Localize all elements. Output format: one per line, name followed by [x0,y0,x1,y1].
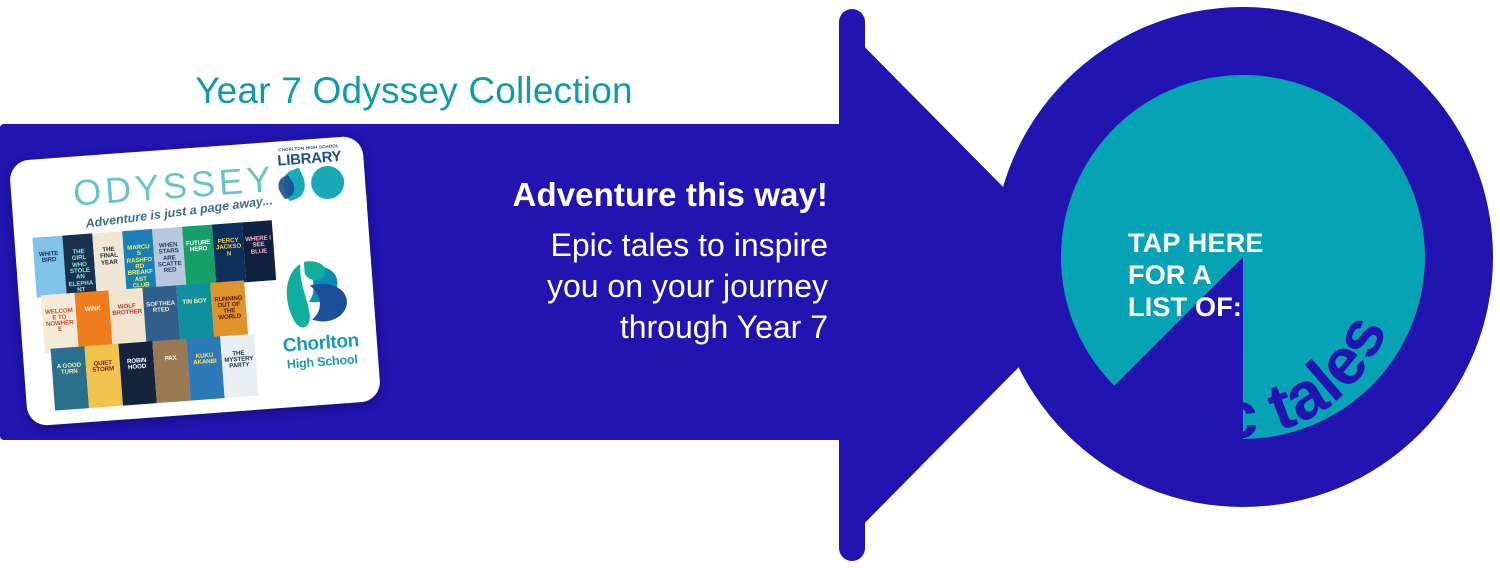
book-cover-title: PAX [155,354,185,362]
book-cover: THE GIRL WHO STOLE AN ELEPHANT [62,233,96,295]
tap-here-line-1: TAP HERE [1128,228,1348,260]
book-cover-title: THE FINAL YEAR [95,246,122,267]
book-cover-title: QUIET STORM [88,359,119,374]
book-cover-grid: WHITE BIRDTHE GIRL WHO STOLE AN ELEPHANT… [32,220,284,412]
banner-heading: Adventure this way! [360,176,828,215]
book-cover-title: KUKU AKANBI [189,352,220,367]
banner-copy: Adventure this way! Epic tales to inspir… [360,176,828,348]
book-cover: KUKU AKANBI [186,336,224,400]
book-cover: MARCUS RASHFORD BREAKFAST CLUB ADVENTURE… [122,229,156,291]
banner-subheading: Epic tales to inspire you on your journe… [360,225,828,348]
library-badge: CHORLTON HIGH SCHOOL LIBRARY [266,142,352,206]
book-cover: WHEN STARS ARE SCATTERED [152,227,186,289]
book-cover: A GOOD TURN [51,346,89,410]
book-cover: THE FINAL YEAR [92,231,126,293]
tap-here-line-3: LIST OF: [1128,292,1348,324]
book-cover-title: A GOOD TURN [54,362,85,377]
book-cover-title: TIN BOY [179,298,209,306]
book-cover-title: FUTURE HERO [185,240,212,254]
book-cover-title: THE MYSTERY PARTY [223,349,254,370]
banner-subheading-line-2: you on your journey [360,266,828,307]
book-cover: WHITE BIRD [32,236,66,298]
book-cover: FUTURE HERO [182,225,216,287]
poster-canvas: Epic tales Year 7 Odyssey Collection Adv… [0,0,1500,568]
chorlton-high-school-logo: Chorlton High School [262,253,377,390]
book-cover: QUIET STORM [84,344,122,408]
odyssey-card-image: ODYSSEY Adventure is just a page away...… [9,135,382,426]
book-cover: WINK [75,290,113,350]
page-title: Year 7 Odyssey Collection [0,62,828,120]
book-cover: ROBIN HOOD [118,341,156,405]
book-cover: RUNNING OUT OF THE WORLD [210,280,248,340]
book-cover-title: WELCOME TO NOWHERE [44,307,76,334]
book-cover-title: MARCUS RASHFORD BREAKFAST CLUB ADVENTURE… [125,244,155,291]
tap-here-callout[interactable]: TAP HERE FOR A LIST OF: [1128,228,1348,324]
book-cover: SOFTHEARTED [142,285,180,345]
book-cover-title: SOFTHEARTED [145,300,176,315]
book-cover: THE MYSTERY PARTY [220,334,258,398]
book-cover: PAX [152,339,190,403]
book-cover-title: ROBIN HOOD [122,357,153,372]
book-cover-title: THE GIRL WHO STOLE AN ELEPHANT [65,249,94,295]
book-cover-title: WOLF BROTHER [112,302,143,317]
book-cover-title: RUNNING OUT OF THE WORLD [213,295,245,322]
book-cover-title: PERCY JACKSON [215,238,242,259]
book-cover-title: WHEN STARS ARE SCATTERED [155,242,183,275]
book-cover: WELCOME TO NOWHERE [41,293,79,353]
banner-subheading-line-1: Epic tales to inspire [360,225,828,266]
book-cover: WOLF BROTHER [108,288,146,348]
book-cover-title: WHITE BIRD [35,251,62,265]
odyssey-card: ODYSSEY Adventure is just a page away...… [9,135,382,426]
open-book-icon [310,165,345,200]
tap-here-line-2: FOR A [1128,260,1348,292]
book-cover: PERCY JACKSON [212,222,246,284]
chorlton-bird-leaf-logo [262,253,373,337]
book-cover-title: WINK [78,305,108,313]
book-cover-title: WHERE I SEE BLUE [245,235,272,256]
banner-subheading-line-3: through Year 7 [360,307,828,348]
book-cover: TIN BOY [176,283,214,343]
